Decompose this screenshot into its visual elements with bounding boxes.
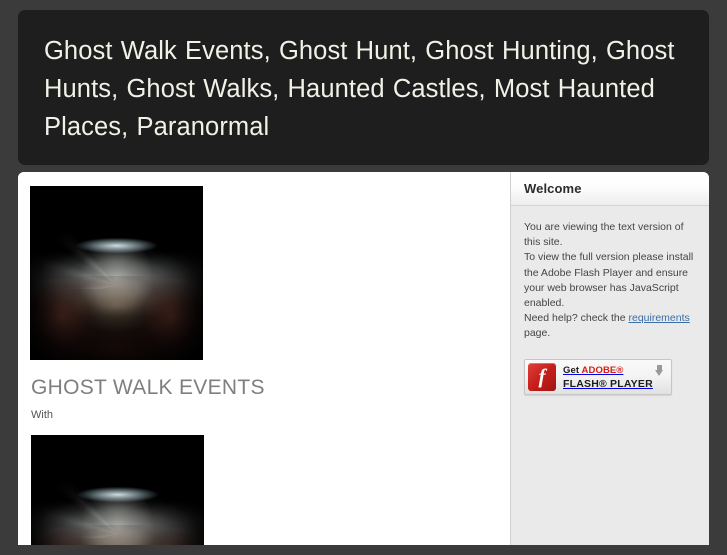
sidebar-help-paragraph: Need help? check the requirements page.	[524, 311, 697, 341]
help-prefix-text: Need help? check the	[524, 312, 629, 324]
page-title: Ghost Walk Events, Ghost Hunt, Ghost Hun…	[44, 32, 683, 146]
sidebar-line: the Adobe Flash Player and ensure	[524, 266, 697, 281]
flash-badge-line-1: Get ADOBE®	[563, 365, 623, 376]
sidebar: Welcome You are viewing the text version…	[510, 172, 709, 545]
flash-adobe-text: ADOBE®	[582, 365, 624, 376]
second-ghost-image[interactable]	[31, 435, 204, 545]
flash-get-text: Get	[563, 365, 582, 376]
second-image-wrapper	[31, 435, 510, 545]
site-header: Ghost Walk Events, Ghost Hunt, Ghost Hun…	[18, 10, 709, 165]
main-content-column: GHOST WALK EVENTS With	[18, 172, 510, 545]
sidebar-line: enabled.	[524, 296, 697, 311]
flash-f-glyph: f	[528, 363, 556, 391]
get-adobe-flash-player-button[interactable]: f Get ADOBE® FLASH® PLAYER	[524, 359, 672, 395]
sidebar-line: this site.	[524, 235, 697, 250]
sidebar-title: Welcome	[524, 181, 582, 196]
sidebar-paragraph: You are viewing the text version of this…	[524, 220, 697, 311]
ghost-vignette-overlay	[31, 435, 204, 545]
flash-badge-text: Get ADOBE® FLASH® PLAYER	[563, 363, 667, 390]
adobe-flash-logo-icon: f	[528, 363, 556, 391]
download-arrow-icon	[655, 365, 664, 376]
requirements-link[interactable]: requirements	[629, 312, 690, 324]
content-columns: GHOST WALK EVENTS With Welcome You are v…	[18, 172, 709, 545]
sidebar-body: You are viewing the text version of this…	[511, 206, 709, 395]
content-heading: GHOST WALK EVENTS	[31, 376, 510, 400]
hero-ghost-image[interactable]	[30, 186, 203, 360]
sidebar-header: Welcome	[511, 172, 709, 206]
flash-badge-line-2: FLASH® PLAYER	[563, 378, 653, 390]
help-suffix-text: page.	[524, 327, 550, 339]
arrow-head	[655, 370, 663, 376]
page-root: Ghost Walk Events, Ghost Hunt, Ghost Hun…	[0, 10, 727, 555]
sidebar-line: You are viewing the text version of	[524, 220, 697, 235]
content-subtext: With	[31, 408, 510, 422]
sidebar-line: your web browser has JavaScript	[524, 281, 697, 296]
ghost-vignette-overlay	[30, 186, 203, 360]
sidebar-line: To view the full version please install	[524, 250, 697, 265]
